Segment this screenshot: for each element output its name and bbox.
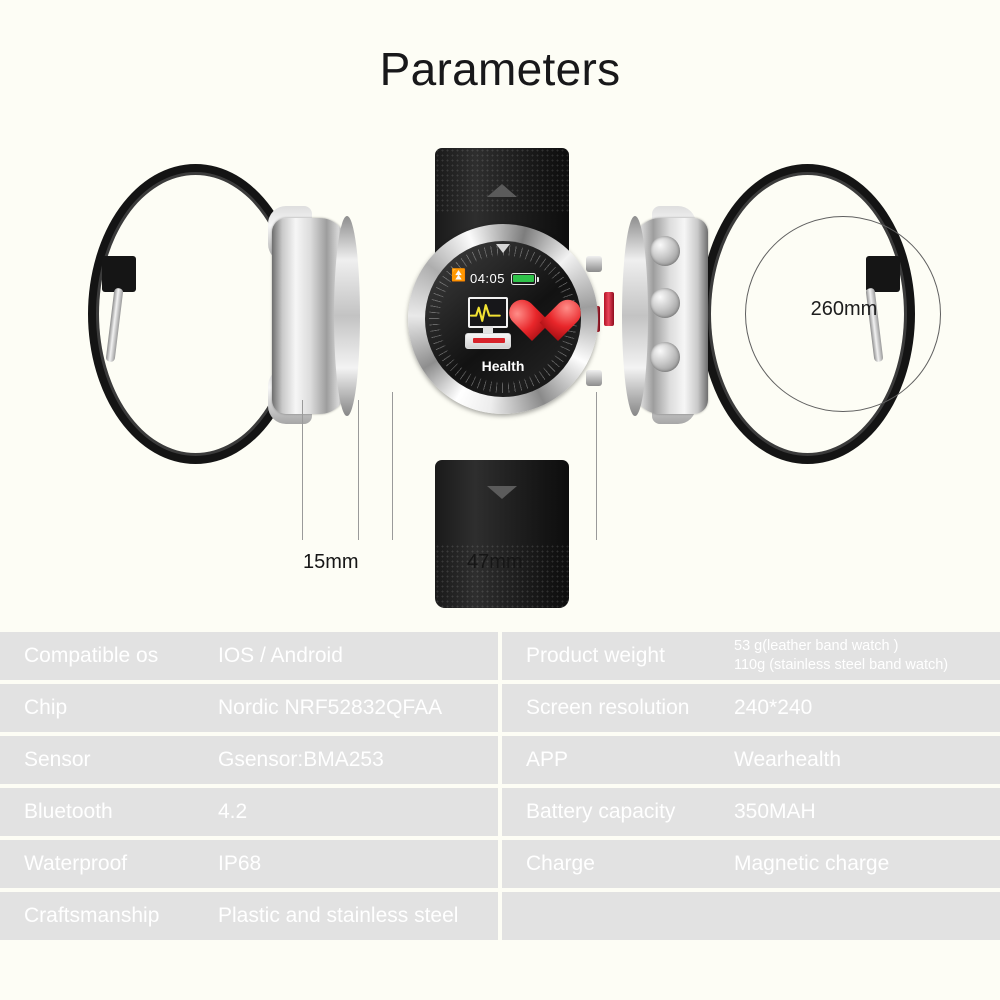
strap-chevron-down-icon (487, 486, 517, 499)
spec-key: Screen resolution (502, 696, 734, 720)
table-row: Battery capacity350MAH (502, 788, 1000, 836)
spec-key: Charge (502, 852, 734, 876)
heart-icon (509, 301, 557, 345)
table-row: ChargeMagnetic charge (502, 840, 1000, 888)
strap-chevron-up-icon (487, 184, 517, 197)
table-row: WaterproofIP68 (0, 840, 498, 888)
leader-line-case-left (392, 392, 393, 540)
table-row: APPWearhealth (502, 736, 1000, 784)
spec-value: Wearhealth (734, 748, 1000, 772)
monitor-screen (468, 297, 508, 328)
spec-key: Bluetooth (0, 800, 218, 824)
spec-value: Plastic and stainless steel (218, 904, 498, 928)
spec-key: Compatible os (0, 644, 218, 668)
leader-line-band-right (358, 400, 359, 540)
product-image-group: ⏫ 04:05 (0, 130, 1000, 600)
table-row: ChipNordic NRF52832QFAA (0, 684, 498, 732)
leader-line-case-right (596, 392, 597, 540)
spec-value: 53 g(leather band watch )110g (stainless… (734, 637, 1000, 674)
spec-key: Waterproof (0, 852, 218, 876)
dimension-label-band-width: 15mm (303, 551, 359, 574)
watch-front-view: ⏫ 04:05 (408, 148, 598, 608)
watch-case-rim-left (334, 216, 360, 416)
spec-value: 350MAH (734, 800, 1000, 824)
dial-top-marker-icon (496, 244, 510, 253)
watch-clock: 04:05 (470, 271, 505, 286)
spec-value: Magnetic charge (734, 852, 1000, 876)
spec-key: Craftsmanship (0, 904, 218, 928)
spec-value: 240*240 (734, 696, 1000, 720)
band-sheen-left (96, 172, 295, 456)
dimension-label-case-diameter: 47mm (467, 551, 523, 574)
spec-key: Battery capacity (502, 800, 734, 824)
spec-column-left: Compatible osIOS / AndroidChipNordic NRF… (0, 632, 498, 940)
strap-texture-top (435, 148, 569, 212)
spec-key: Sensor (0, 748, 218, 772)
table-row: Screen resolution240*240 (502, 684, 1000, 732)
monitor-base (465, 333, 511, 349)
dimension-label-circumference: 260mm (744, 298, 944, 321)
watch-crown-middle[interactable] (650, 288, 680, 318)
table-row: Product weight53 g(leather band watch )1… (502, 632, 1000, 680)
specifications-table: Compatible osIOS / AndroidChipNordic NRF… (0, 632, 1000, 940)
watch-button-top[interactable] (586, 256, 602, 272)
table-row: Compatible osIOS / Android (0, 632, 498, 680)
health-illustration (425, 293, 581, 355)
page-title: Parameters (0, 42, 1000, 96)
watch-button-bottom[interactable] (586, 370, 602, 386)
spec-value: Gsensor:BMA253 (218, 748, 498, 772)
spec-value: IP68 (218, 852, 498, 876)
table-row: SensorGsensor:BMA253 (0, 736, 498, 784)
table-row: Bluetooth4.2 (0, 788, 498, 836)
spec-value: 4.2 (218, 800, 498, 824)
spec-column-right: Product weight53 g(leather band watch )1… (502, 632, 1000, 940)
watch-case-rim-right (622, 216, 648, 416)
watch-status-bar: 04:05 (425, 271, 581, 286)
product-spec-page: Parameters (0, 0, 1000, 1000)
watch-red-button-right[interactable] (604, 292, 614, 326)
ecg-monitor-icon (465, 297, 511, 349)
watch-app-label: Health (425, 358, 581, 374)
watch-strap-bottom (435, 460, 569, 608)
spec-value: Nordic NRF52832QFAA (218, 696, 498, 720)
leader-line-band-left (302, 400, 303, 540)
spec-key: Product weight (502, 644, 734, 668)
watch-dial-screen[interactable]: ⏫ 04:05 (425, 241, 581, 397)
table-row (502, 892, 1000, 940)
watch-bezel: ⏫ 04:05 (408, 224, 598, 414)
spec-value: IOS / Android (218, 644, 498, 668)
watch-crown-top[interactable] (650, 236, 680, 266)
spec-key: APP (502, 748, 734, 772)
watch-crown-bottom[interactable] (650, 342, 680, 372)
table-row: CraftsmanshipPlastic and stainless steel (0, 892, 498, 940)
spec-key: Chip (0, 696, 218, 720)
battery-icon (511, 273, 536, 285)
band-buckle-left (102, 256, 136, 292)
